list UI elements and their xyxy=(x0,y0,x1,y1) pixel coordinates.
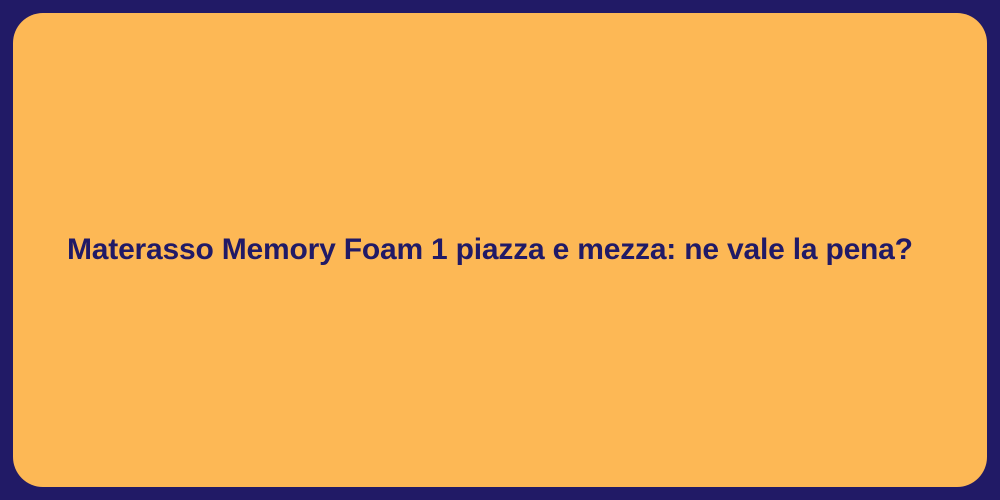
article-title: Materasso Memory Foam 1 piazza e mezza: … xyxy=(67,231,913,269)
article-card-panel: Materasso Memory Foam 1 piazza e mezza: … xyxy=(13,13,987,487)
article-card-frame: Materasso Memory Foam 1 piazza e mezza: … xyxy=(0,0,1000,500)
